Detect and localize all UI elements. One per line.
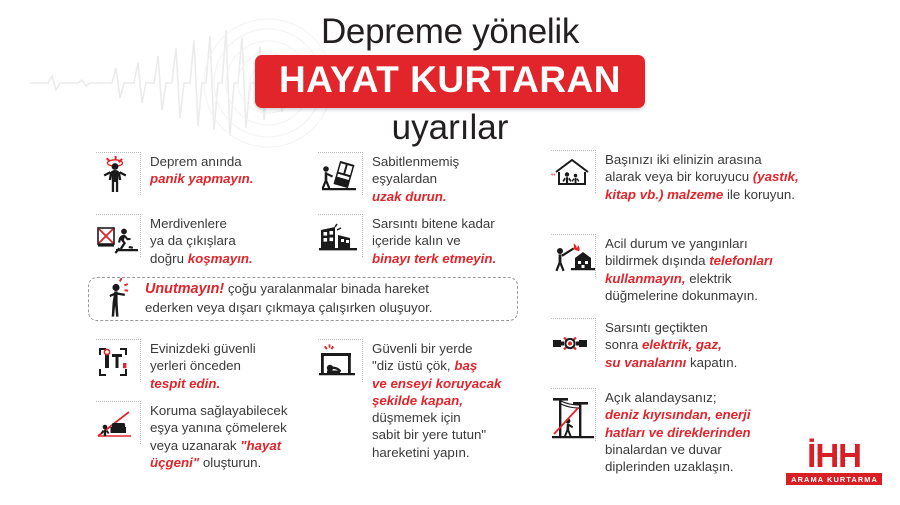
tip-safe-spots: Evinizdeki güvenliyerleri öncedentespit … <box>96 339 296 392</box>
tip-text: Evinizdeki güvenliyerleri öncedentespit … <box>150 339 256 392</box>
header: Depreme yönelik HAYAT KURTARAN uyarılar <box>0 14 900 146</box>
tip-head-protect: Başınızı iki elinizin arasınaalarak veya… <box>551 150 841 203</box>
tip-text: Sarsıntı geçtiktensonra elektrik, gaz,su… <box>605 318 737 371</box>
house-family-shelter-icon <box>551 150 596 193</box>
title-line-bottom: uyarılar <box>0 110 900 147</box>
tip-text: Merdivenlereya da çıkışlaradoğru koşmayı… <box>150 214 253 267</box>
tip-text: Acil durum ve yangınlarıbildirmek dışınd… <box>605 234 773 304</box>
tip-text: Sarsıntı bitene kadariçeride kalın vebin… <box>372 214 496 267</box>
safe-place-plan-icon <box>96 339 141 382</box>
logo-mark: İHH <box>786 440 882 472</box>
tip-triangle-of-life: Koruma sağlayabilecekeşya yanına çömeler… <box>96 401 306 471</box>
power-lines-warning-icon <box>551 388 596 441</box>
valve-shutoff-icon <box>551 318 596 361</box>
tip-panic: Deprem anındapanik yapmayın. <box>96 152 296 195</box>
damaged-building-icon <box>318 214 363 257</box>
duck-cover-hold-icon <box>318 339 363 382</box>
tip-text: Sabitlenmemişeşyalardanuzak durun. <box>372 152 459 205</box>
tip-text: Başınızı iki elinizin arasınaalarak veya… <box>605 150 799 203</box>
ihh-logo: İHH ARAMA KURTARMA <box>786 440 882 485</box>
title-banner: HAYAT KURTARAN <box>255 55 645 108</box>
falling-furniture-icon <box>318 152 363 195</box>
person-panicking-icon <box>96 152 141 195</box>
tip-stairs: Merdivenlereya da çıkışlaradoğru koşmayı… <box>96 214 296 267</box>
callout-lead: Unutmayın! <box>145 281 224 297</box>
tip-text: Açık alandaysanız;deniz kıyısından, ener… <box>605 388 751 475</box>
tip-drop-cover-hold: Güvenli bir yerde"diz üstü çök, başve en… <box>318 339 518 461</box>
tip-text: Koruma sağlayabilecekeşya yanına çömeler… <box>150 401 287 471</box>
person-shouting-icon <box>99 278 141 318</box>
fire-rescue-worker-icon <box>551 234 596 277</box>
callout-body-line2: ederken veya dışarı çıkmaya çalışırken o… <box>145 299 433 316</box>
infographic-canvas: Depreme yönelik HAYAT KURTARAN uyarılar … <box>0 0 900 505</box>
no-stairs-running-icon <box>96 214 141 257</box>
tip-text: Güvenli bir yerde"diz üstü çök, başve en… <box>372 339 501 461</box>
tip-phones: Acil durum ve yangınlarıbildirmek dışınd… <box>551 234 841 304</box>
callout-body-line1: çoğu yaralanmalar binada hareket <box>224 281 429 296</box>
title-line-top: Depreme yönelik <box>0 14 900 51</box>
callout-remember: Unutmayın! çoğu yaralanmalar binada hare… <box>88 277 518 321</box>
life-triangle-icon <box>96 401 141 444</box>
tip-text: Deprem anındapanik yapmayın. <box>150 152 253 188</box>
logo-subtitle: ARAMA KURTARMA <box>786 473 882 485</box>
tip-stay-inside: Sarsıntı bitene kadariçeride kalın vebin… <box>318 214 528 267</box>
tip-shut-valves: Sarsıntı geçtiktensonra elektrik, gaz,su… <box>551 318 841 371</box>
callout-text: Unutmayın! çoğu yaralanmalar binada hare… <box>145 280 433 316</box>
tip-furniture: Sabitlenmemişeşyalardanuzak durun. <box>318 152 518 205</box>
